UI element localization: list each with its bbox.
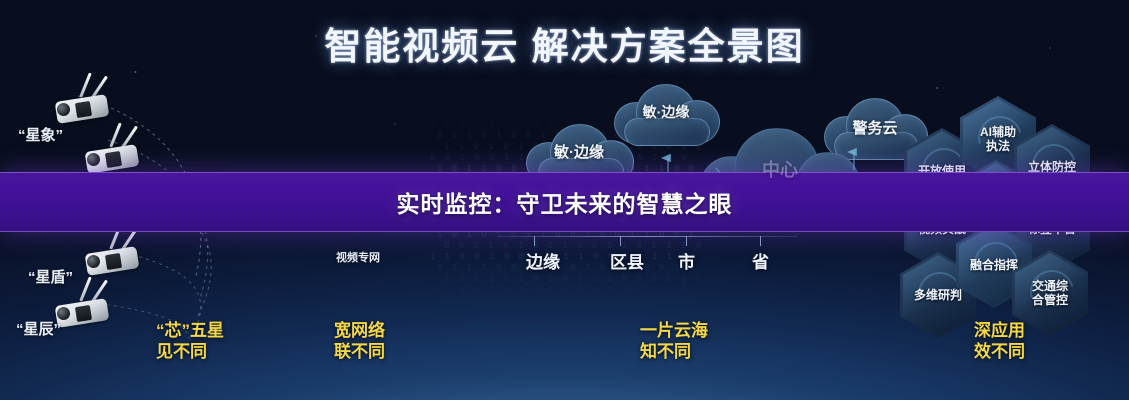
tier-label-county: 区县 xyxy=(610,248,644,273)
tier-tick-3 xyxy=(686,236,687,246)
slogan-cloud-sea: 一片云海 知不同 xyxy=(640,320,708,363)
slogan-line-2: 知不同 xyxy=(640,341,708,362)
poster-canvas: 1 0 0 1 0 1 1 0 0 1 0 1 1 0 0 1 0 10 1 1… xyxy=(0,0,1129,400)
hex-label: 交通综合管控 xyxy=(1032,279,1068,308)
page-title: 智能视频云 解决方案全景图 xyxy=(0,16,1129,70)
cloud-label: 敏·边缘 xyxy=(554,141,604,162)
cloud-label: 警务云 xyxy=(852,117,897,138)
slogan-line-2: 见不同 xyxy=(156,341,224,362)
banner-top-edge xyxy=(0,172,1129,173)
overlay-banner: 实时监控：守卫未来的智慧之眼 xyxy=(0,172,1129,232)
camera-label-5: “星辰” xyxy=(16,318,61,339)
banner-bottom-edge xyxy=(0,231,1129,232)
slogan-line-2: 联不同 xyxy=(334,341,385,362)
tier-tick-1 xyxy=(534,236,535,246)
slogan-broad-network: 宽网络 联不同 xyxy=(334,320,385,363)
banner-text: 实时监控：守卫未来的智慧之眼 xyxy=(0,185,1129,219)
tier-tick-2 xyxy=(620,236,621,246)
slogan-chip-five-star: “芯”五星 见不同 xyxy=(156,320,224,363)
hex-label: 融合指挥 xyxy=(970,258,1018,272)
network-label: 视频专网 xyxy=(336,249,380,265)
camera-device-2 xyxy=(78,138,140,172)
camera-device-1 xyxy=(48,88,110,122)
hex-label: AI辅助执法 xyxy=(980,125,1016,154)
slogan-deep-app: 深应用 效不同 xyxy=(974,320,1025,363)
hex-label: 多维研判 xyxy=(914,288,962,302)
camera-device-4 xyxy=(78,240,140,274)
tier-label-province: 省 xyxy=(752,248,769,273)
tier-axis-line xyxy=(498,236,798,237)
slogan-line-2: 效不同 xyxy=(974,341,1025,362)
slogan-line-1: “芯”五星 xyxy=(156,320,224,341)
tier-label-city: 市 xyxy=(678,248,695,273)
cloud-label: 中心 xyxy=(762,156,798,182)
tier-tick-4 xyxy=(760,236,761,246)
cloud-label: 敏·边缘 xyxy=(643,102,690,122)
camera-label-1: “星象” xyxy=(18,124,63,145)
slogan-line-1: 宽网络 xyxy=(334,320,385,341)
tier-label-edge: 边缘 xyxy=(526,248,560,273)
slogan-line-1: 一片云海 xyxy=(640,320,708,341)
slogan-line-1: 深应用 xyxy=(974,320,1025,341)
camera-label-4: “星盾” xyxy=(28,266,73,287)
